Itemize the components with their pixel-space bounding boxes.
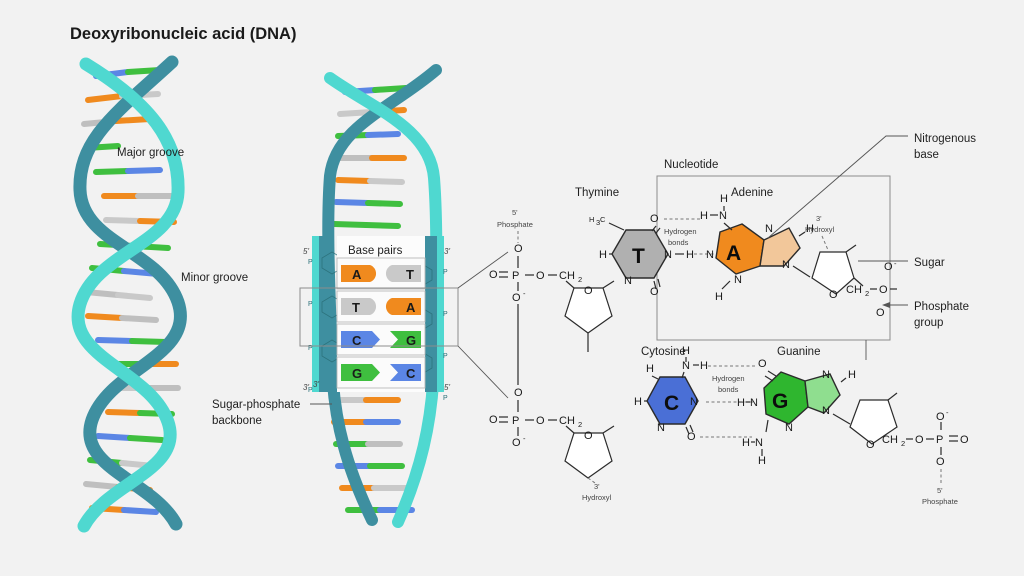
base-block-A [386,298,421,315]
atom-H-c-top: H [646,363,654,375]
base-block-T [386,265,421,282]
hydroxyl-bottom-word: Hydroxyl [582,493,612,502]
atom-P-br: P [936,434,943,446]
base-pairs-heading: Base pairs [348,245,403,257]
atom-O: O [514,243,523,255]
atom-CH2-br: CH [882,434,898,446]
hbond-label-l1-cg: Hydrogen [712,374,745,383]
phosphate-bottom-word: Phosphate [922,497,958,506]
atom-H-amine-top: H [720,193,728,205]
atom-H3C-C: C [600,215,606,224]
label-thymine: Thymine [575,187,619,199]
atom-N-bottom: N [624,275,632,287]
hbond-label-l2-cg: bonds [718,385,739,394]
atom-O-top: O [650,213,659,225]
phosphate-5prime-bottom: 5' [937,486,943,495]
atom-O-ring-c: O [584,430,593,442]
callout-pg-l2: group [914,317,943,329]
atom-O-ring: O [584,285,593,297]
atom-H-bottom: H [715,291,723,303]
atom-N-bottom: N [734,274,742,286]
atom-O-right-bottom: O [876,307,885,319]
phosphate-5prime-label: 5' [512,208,518,217]
atom-H-c-amine-right: H [700,360,708,372]
cytosine-letter: C [664,392,679,415]
atom-O-bl-minus: O [512,437,521,449]
thymine-letter: T [632,245,645,268]
atom-CH2-br-sub: 2 [901,439,905,448]
atom-O-bottom: O [650,286,659,298]
atom-O-minus: O [512,292,521,304]
adenine-letter: A [726,242,741,265]
atom-O-link: O [536,270,545,282]
base-pair-row-2[interactable]: T A [337,291,425,322]
label-major-groove: Major groove [117,147,184,159]
atom-N-g-amine: N [755,437,763,449]
atom-P-bl: P [512,415,519,427]
atom-H-nh: H [686,249,694,261]
base-letter-right: T [406,267,414,282]
atom-O-bl-double: O [489,414,498,426]
base-letter-right: C [406,366,416,381]
atom-N-left: N [706,249,714,261]
label-cytosine: Cytosine [641,346,686,358]
hydroxyl-3prime-bottom: 3' [594,482,600,491]
atom-CH2-right: CH [846,284,862,296]
guanine-letter: G [772,390,788,413]
label-sugar-phosphate-l2: backbone [212,415,262,427]
atom-H-left: H [599,249,607,261]
atom-O-bl-link: O [536,415,545,427]
atom-N-g-bottom: N [785,422,793,434]
svg-text:P: P [308,259,313,266]
svg-text:P: P [443,353,448,360]
atom-N-right: N [664,249,672,261]
strand-left-3prime: 3' [303,383,309,392]
atom-H-g-pent: H [848,369,856,381]
dna-diagram-canvas: Deoxyribonucleic acid (DNA) [0,0,1024,576]
atom-O-right-minus: O [884,261,893,273]
hbond-label-l1-at: Hydrogen [664,227,697,236]
base-pair-row-3[interactable]: C G [337,324,425,355]
atom-N-g-pent-bottom: N [822,405,830,417]
atom-O-g-top: O [758,358,767,370]
atom-H-c-left: H [634,396,642,408]
strand-right-3prime: 3' [444,247,450,256]
atom-N-amine: N [719,210,727,222]
atom-H-amine: H [700,210,708,222]
svg-text:P: P [443,311,448,318]
svg-text:P: P [308,301,313,308]
svg-text:P: P [443,269,448,276]
base-pair-row-4[interactable]: G C [337,357,425,388]
strand-left-5prime: 5' [303,247,309,256]
callout-pg-l1: Phosphate [914,301,969,313]
callout-nb-l2: base [914,149,939,161]
atom-H-g-left: H [737,397,745,409]
atom-CH2: CH [559,270,575,282]
atom-N-c-bottom: N [657,422,665,434]
atom-P: P [512,270,519,282]
backbone-3prime-marker: 3' [313,380,319,389]
atom-O-bl-top: O [514,387,523,399]
atom-N-pent-bottom: N [782,259,790,271]
strand-right-5prime: 5' [444,383,450,392]
atom-CH2-sub: 2 [578,275,582,284]
label-guanine: Guanine [777,346,820,358]
atom-H-g-amine-left: H [742,437,750,449]
label-adenine: Adenine [731,187,773,199]
ladder-backbone-left-dark [318,236,331,392]
atom-O-br-link: O [915,434,924,446]
atom-O-ring-g: O [866,439,875,451]
hbond-label-l2-at: bonds [668,238,689,247]
atom-N-c-right: N [690,396,698,408]
atom-O-right-link: O [879,284,888,296]
atom-CH2-bl-sub: 2 [578,420,582,429]
label-minor-groove: Minor groove [181,272,248,284]
atom-O-double: O [489,269,498,281]
atom-N-pent-top: N [765,223,773,235]
atom-O-br-bottom: O [936,456,945,468]
atom-H-g-amine-bottom: H [758,455,766,467]
svg-text:P: P [443,395,448,402]
page-title: Deoxyribonucleic acid (DNA) [70,25,296,43]
base-letter-right: A [406,300,416,315]
label-sugar-phosphate-l1: Sugar-phosphate [212,399,300,411]
ladder-backbone-left-light [312,236,319,392]
atom-CH2-right-sub: 2 [865,289,869,298]
hydroxyl-3prime-right: 3' [816,214,822,223]
base-letter-left: G [352,366,362,381]
hydroxyl-right-word: Hydroxyl [805,225,835,234]
atom-N-g-left: N [750,397,758,409]
base-letter-left: A [352,267,362,282]
atom-N-g-pent-top: N [822,369,830,381]
atom-O-ring-a: O [829,289,838,301]
label-nucleotide: Nucleotide [664,159,718,171]
atom-H3C-H: H [589,215,594,224]
atom-CH2-bl: CH [559,415,575,427]
atom-O-br-double: O [960,434,969,446]
base-letter-left: T [352,300,360,315]
atom-H-c-amine-top: H [682,345,690,357]
phosphate-top-word: Phosphate [497,220,533,229]
callout-nb-l1: Nitrogenous [914,133,976,145]
atom-O-br-minus: O [936,411,945,423]
base-pair-row-1[interactable]: A T [337,258,425,289]
callout-sugar-text: Sugar [914,257,945,269]
